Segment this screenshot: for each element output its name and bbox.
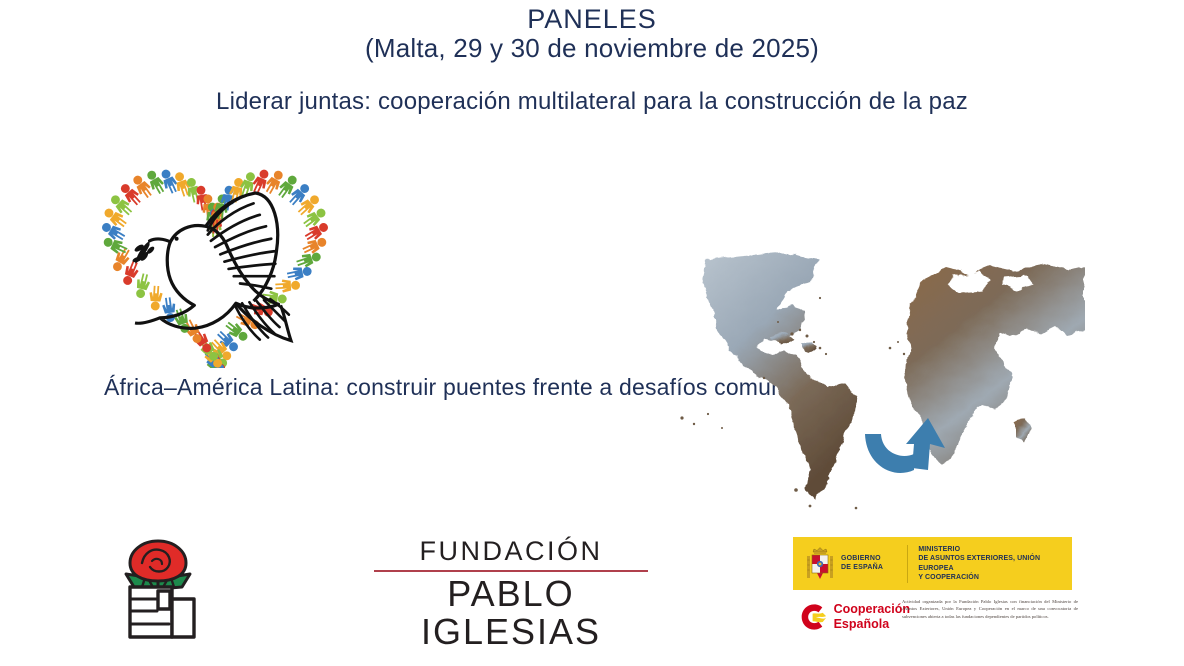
rose-bloom <box>130 541 186 581</box>
fundacion-pablo-iglesias-logo: FUNDACIÓN PABLO IGLESIAS <box>372 538 650 630</box>
ministerio-line2: DE ASUNTOS EXTERIORES, UNIÓN EUROPEA <box>918 554 1072 572</box>
americas-landmass <box>702 252 856 500</box>
heart-person-figure <box>295 249 322 269</box>
gov-left-group: GOBIERNO DE ESPAÑA <box>793 545 907 583</box>
ministerio-line1: MINISTERIO <box>918 545 1072 554</box>
world-map-graphic <box>660 238 1085 523</box>
ministerio-label: MINISTERIO DE ASUNTOS EXTERIORES, UNIÓN … <box>908 545 1072 581</box>
heart-person-figure <box>275 279 300 293</box>
header-titles: PANELES (Malta, 29 y 30 de noviembre de … <box>0 4 1184 64</box>
gobierno-line2: DE ESPAÑA <box>841 564 883 573</box>
spanish-coat-of-arms-icon <box>805 545 835 583</box>
ministerio-line3: Y COOPERACIÓN <box>918 573 1072 582</box>
event-theme: Liderar juntas: cooperación multilateral… <box>0 88 1184 116</box>
socialist-rose-fist-logo <box>112 533 204 645</box>
page-subtitle: (Malta, 29 y 30 de noviembre de 2025) <box>0 34 1184 64</box>
funding-disclaimer: Actividad organizada por la Fundación Pa… <box>902 598 1078 620</box>
heart-people-ring <box>99 167 330 368</box>
cooperacion-label: Cooperación Española <box>834 602 910 632</box>
gobierno-label: GOBIERNO DE ESPAÑA <box>841 555 883 573</box>
heart-person-figure <box>133 272 152 299</box>
peace-heart-logo <box>83 133 348 368</box>
cooperacion-c-mark-icon <box>800 600 829 634</box>
foundation-name: PABLO IGLESIAS <box>372 575 650 651</box>
heart-person-figure <box>286 264 313 282</box>
foundation-rule <box>374 570 648 572</box>
cooperacion-line2: Española <box>834 617 910 632</box>
cooperacion-line1: Cooperación <box>834 602 910 617</box>
heart-person-figure <box>148 285 163 310</box>
page-title: PANELES <box>0 4 1184 34</box>
gobierno-de-espana-banner: GOBIERNO DE ESPAÑA MINISTERIO DE ASUNTOS… <box>793 537 1072 590</box>
cooperacion-espanola-logo: Cooperación Española <box>800 596 910 638</box>
foundation-word: FUNDACIÓN <box>372 538 650 565</box>
gobierno-line1: GOBIERNO <box>841 555 883 564</box>
